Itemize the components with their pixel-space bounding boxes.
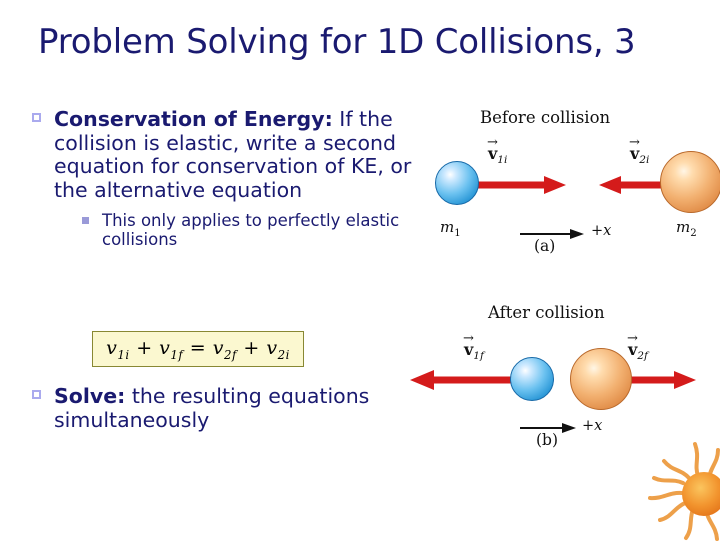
- sub-bullet-text: This only applies to perfectly elastic c…: [102, 211, 399, 249]
- axis-variable: x: [594, 418, 602, 434]
- axis-sign: +: [591, 223, 603, 239]
- figure-caption-after: After collision: [488, 303, 605, 322]
- vector-arrow-accent-icon: →: [627, 331, 638, 346]
- collision-figure: Before collision →v1i →v2i m1 m2 +x (a): [404, 108, 716, 448]
- eq-v2: v: [159, 337, 170, 359]
- vector-arrow-accent-icon: →: [629, 135, 640, 150]
- sun-icon: [648, 438, 720, 548]
- axis-sign: +: [582, 418, 594, 434]
- eq-op1: +: [136, 337, 152, 359]
- equation-text: v1i + v1f = v2f + v2i: [106, 337, 290, 362]
- filled-square-bullet-icon: [82, 217, 89, 224]
- vector-label-v1i: →v1i: [488, 144, 507, 166]
- mass-2-sphere-after: [570, 348, 632, 410]
- bullet-lead-label: Conservation of Energy:: [54, 107, 333, 131]
- vector-label-v1f: →v1f: [464, 340, 484, 362]
- mass-label-m2: m2: [676, 218, 697, 239]
- bullet-solve-row: Solve: the resulting equations simultane…: [28, 385, 418, 432]
- mass-symbol: m: [676, 218, 690, 236]
- sub-bullet-elastic-note: This only applies to perfectly elastic c…: [76, 211, 418, 249]
- bullet-conservation-of-energy: Conservation of Energy: If the collision…: [28, 108, 418, 202]
- mass-subscript: 1: [454, 228, 460, 239]
- vector-subscript: 2f: [637, 350, 648, 362]
- vector-subscript: 1i: [497, 154, 507, 166]
- eq-sub3: 2f: [224, 347, 237, 361]
- content-column: Conservation of Energy: If the collision…: [28, 108, 418, 249]
- page-title: Problem Solving for 1D Collisions, 3: [38, 22, 698, 62]
- vector-arrow-accent-icon: →: [463, 331, 474, 346]
- eq-equals: =: [190, 337, 206, 359]
- eq-v4: v: [266, 337, 277, 359]
- equation-box: v1i + v1f = v2f + v2i: [92, 331, 304, 367]
- bullet-solve: Solve: the resulting equations simultane…: [28, 385, 418, 432]
- eq-op2: +: [243, 337, 259, 359]
- eq-sub4: 2i: [278, 347, 290, 361]
- eq-v3: v: [213, 337, 224, 359]
- vector-subscript: 2i: [639, 154, 649, 166]
- mass-2-sphere: [660, 151, 720, 213]
- bullet-lead-label: Solve:: [54, 384, 125, 408]
- eq-sub2: 1f: [170, 347, 183, 361]
- eq-v1: v: [106, 337, 117, 359]
- mass-1-sphere-after: [510, 357, 554, 401]
- vector-label-v2i: →v2i: [630, 144, 649, 166]
- mass-subscript: 2: [690, 228, 696, 239]
- figure-label-a: (a): [534, 237, 555, 255]
- mass-symbol: m: [440, 218, 454, 236]
- vector-subscript: 1f: [473, 350, 484, 362]
- velocity-arrow-v1f-icon: [410, 370, 522, 390]
- vector-arrow-accent-icon: →: [487, 135, 498, 150]
- hollow-square-bullet-icon: [32, 390, 41, 399]
- figure-caption-before: Before collision: [480, 108, 610, 127]
- mass-label-m1: m1: [440, 218, 461, 239]
- axis-label-plus-x: +x: [591, 223, 611, 239]
- mass-1-sphere: [435, 161, 479, 205]
- eq-sub1: 1i: [117, 347, 129, 361]
- vector-label-v2f: →v2f: [628, 340, 648, 362]
- figure-label-b: (b): [536, 431, 558, 449]
- axis-variable: x: [603, 223, 611, 239]
- axis-label-plus-x: +x: [582, 418, 602, 434]
- hollow-square-bullet-icon: [32, 113, 41, 122]
